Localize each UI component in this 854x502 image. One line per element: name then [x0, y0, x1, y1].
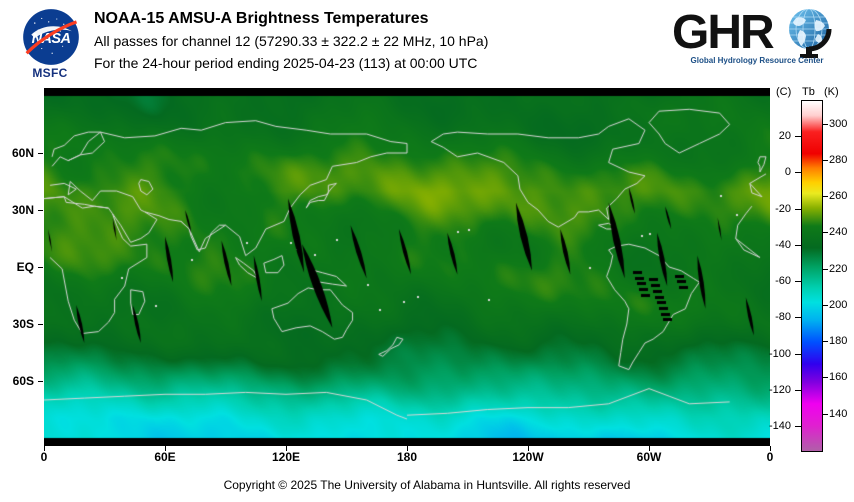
colorbar-kelvin-tick: [822, 414, 828, 415]
x-axis-label: 120E: [272, 450, 300, 464]
y-axis-tick: [38, 153, 43, 154]
colorbar-celsius-tick: [795, 245, 801, 246]
colorbar-gradient[interactable]: [801, 100, 823, 452]
colorbar-celsius-label: -80: [763, 311, 791, 323]
y-axis-tick: [38, 324, 43, 325]
period-subtitle: For the 24-hour period ending 2025-04-23…: [94, 52, 488, 74]
colorbar-kelvin-tick: [822, 377, 828, 378]
y-axis-label: 60N: [0, 146, 34, 160]
colorbar-kelvin-tick: [822, 305, 828, 306]
y-axis-tick: [38, 210, 43, 211]
nasa-logo: NASA MSFC: [14, 6, 86, 84]
y-axis-tick: [38, 267, 43, 268]
colorbar-kelvin-tick: [822, 124, 828, 125]
x-axis-label: 120W: [512, 450, 543, 464]
colorbar-celsius-tick: [795, 426, 801, 427]
x-axis-label: 180: [397, 450, 417, 464]
colorbar-kelvin-label: 160: [829, 371, 847, 383]
channel-subtitle: All passes for channel 12 (57290.33 ± 32…: [94, 30, 488, 52]
colorbar-kelvin-header: (K): [824, 86, 839, 98]
page-header: NASA MSFC NOAA-15 AMSU-A Brightness Temp…: [0, 0, 854, 88]
colorbar-kelvin-label: 280: [829, 154, 847, 166]
y-axis-label: 60S: [0, 374, 34, 388]
title-block: NOAA-15 AMSU-A Brightness Temperatures A…: [94, 8, 488, 74]
colorbar-celsius-label: -20: [763, 203, 791, 215]
colorbar-kelvin-tick: [822, 341, 828, 342]
colorbar-celsius-label: 0: [763, 166, 791, 178]
colorbar-kelvin-label: 140: [829, 408, 847, 420]
colorbar-kelvin-label: 300: [829, 118, 847, 130]
colorbar-kelvin-tick: [822, 269, 828, 270]
colorbar-kelvin-tick: [822, 196, 828, 197]
svg-text:GHR: GHR: [672, 6, 774, 59]
colorbar-celsius-tick: [795, 172, 801, 173]
ghrc-wordmark-icon: GHR: [670, 4, 840, 60]
y-axis-label: 30S: [0, 317, 34, 331]
colorbar-celsius-label: -100: [763, 348, 791, 360]
colorbar-celsius-tick: [795, 281, 801, 282]
nasa-center-label: MSFC: [14, 66, 86, 80]
colorbar-celsius-tick: [795, 390, 801, 391]
colorbar-celsius-header: (C): [776, 86, 791, 98]
colorbar-kelvin-label: 200: [829, 299, 847, 311]
x-axis-label: 0: [767, 450, 774, 464]
colorbar-kelvin-tick: [822, 232, 828, 233]
colorbar-kelvin-tick: [822, 160, 828, 161]
x-axis-label: 60E: [154, 450, 175, 464]
colorbar-quantity-header: Tb: [802, 86, 815, 98]
page-title: NOAA-15 AMSU-A Brightness Temperatures: [94, 8, 488, 30]
map-raster[interactable]: [44, 88, 770, 446]
brightness-temperature-map[interactable]: [44, 88, 770, 446]
y-axis-label: 30N: [0, 203, 34, 217]
nasa-meatball-icon: NASA: [22, 8, 80, 66]
colorbar-kelvin-label: 180: [829, 335, 847, 347]
colorbar-kelvin-label: 260: [829, 190, 847, 202]
y-axis-label: EQ: [0, 260, 34, 274]
colorbar-celsius-label: -40: [763, 239, 791, 251]
colorbar-kelvin-label: 220: [829, 263, 847, 275]
colorbar-kelvin-label: 240: [829, 226, 847, 238]
copyright-notice: Copyright © 2025 The University of Alaba…: [0, 478, 854, 492]
colorbar-celsius-label: -60: [763, 275, 791, 287]
colorbar-celsius-label: 20: [763, 130, 791, 142]
colorbar-celsius-tick: [795, 136, 801, 137]
colorbar-celsius-label: -140: [763, 420, 791, 432]
ghrc-tagline: Global Hydrology Resource Center: [678, 56, 836, 65]
ghrc-logo: GHR Global Hydrology Resource Center: [670, 4, 840, 76]
colorbar-celsius-tick: [795, 354, 801, 355]
colorbar-celsius-tick: [795, 317, 801, 318]
x-axis-label: 60W: [637, 450, 662, 464]
x-axis-label: 0: [41, 450, 48, 464]
colorbar-celsius-label: -120: [763, 384, 791, 396]
colorbar-celsius-tick: [795, 209, 801, 210]
y-axis-tick: [38, 381, 43, 382]
